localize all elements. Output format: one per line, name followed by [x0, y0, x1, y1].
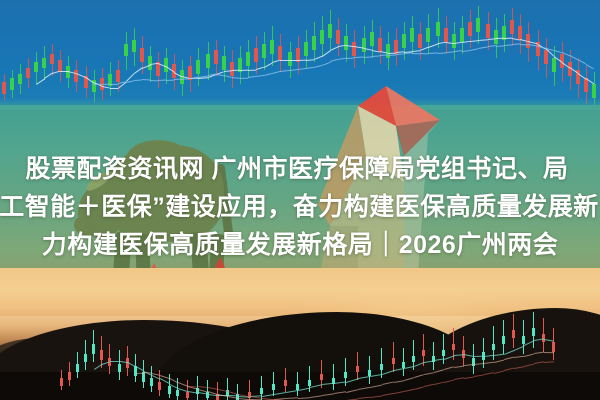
bottom-candlestick-chart	[0, 300, 600, 400]
candlestick	[432, 342, 435, 370]
candlestick-body	[552, 342, 555, 352]
candlestick-body	[42, 58, 46, 68]
trend-line-segment	[514, 366, 524, 369]
candlestick-body	[370, 32, 374, 46]
candlestick-body	[362, 38, 366, 52]
trend-line-segment	[188, 386, 198, 387]
trend-line-segment	[544, 361, 554, 363]
candlestick	[196, 48, 200, 86]
candlestick-body	[272, 384, 275, 390]
candlestick-body	[270, 40, 274, 54]
headline-line-2: 工智能＋医保”建设应用，奋力构建医保高质量发展新	[0, 188, 600, 226]
trend-line-segment	[330, 59, 338, 62]
cover-image: 股票配资资讯网 广州市医疗保障局党组书记、局 工智能＋医保”建设应用，奋力构建医…	[0, 0, 600, 400]
candlestick	[552, 46, 556, 86]
candlestick	[544, 38, 548, 78]
candlestick	[296, 372, 299, 396]
candlestick	[332, 364, 335, 390]
candlestick	[462, 336, 465, 366]
candlestick-body	[10, 78, 14, 90]
candlestick	[512, 314, 515, 348]
trend-line-segment	[382, 393, 394, 396]
candlestick-body	[214, 50, 218, 64]
candlestick	[42, 46, 46, 80]
candlestick	[272, 372, 275, 396]
trend-line-segment	[334, 392, 346, 395]
candlestick-body	[380, 364, 383, 370]
trend-line-segment	[434, 369, 444, 373]
candlestick-body	[206, 54, 210, 68]
candlestick	[84, 340, 87, 370]
candlestick-body	[402, 34, 406, 48]
candlestick	[118, 350, 121, 380]
candlestick-body	[510, 20, 514, 34]
candlestick	[156, 52, 160, 88]
trend-line-segment	[414, 386, 424, 390]
trend-line-segment	[322, 61, 330, 65]
candlestick-body	[84, 354, 87, 362]
candlestick-body	[412, 356, 415, 362]
candlestick	[370, 20, 374, 58]
trend-line-segment	[484, 373, 494, 376]
trend-line-segment	[434, 382, 444, 385]
candlestick	[386, 32, 390, 70]
candlestick-body	[124, 44, 128, 56]
candlestick-body	[18, 74, 22, 84]
trend-line-segment	[358, 387, 370, 390]
candlestick-body	[50, 54, 54, 64]
candlestick-body	[26, 68, 30, 78]
candlestick	[108, 344, 111, 374]
trend-line-segment	[504, 368, 514, 371]
trend-line-segment	[110, 83, 118, 84]
candlestick-body	[392, 358, 395, 364]
candlestick-body	[68, 372, 71, 380]
trend-line-segment	[306, 67, 314, 69]
trend-line-segment	[424, 384, 434, 387]
trend-line-segment	[322, 393, 334, 396]
trend-line-segment	[454, 378, 464, 381]
candlestick	[576, 58, 580, 98]
trend-line-segment	[306, 59, 314, 61]
candlestick	[76, 352, 79, 378]
candlestick-body	[284, 380, 287, 386]
trend-line-segment	[150, 80, 158, 81]
candlestick-body	[544, 50, 548, 64]
candlestick	[344, 24, 348, 62]
candlestick	[502, 320, 505, 354]
trend-line-segment	[208, 387, 218, 390]
trend-line-segment	[286, 398, 298, 400]
candlestick	[132, 28, 136, 66]
candlestick	[216, 382, 219, 400]
trend-line-segment	[424, 372, 434, 375]
trend-line-segment	[494, 370, 504, 373]
candlestick-body	[502, 336, 505, 344]
trend-line-segment	[534, 362, 544, 365]
candlestick	[532, 312, 535, 348]
candlestick	[536, 30, 540, 70]
candlestick-body	[196, 60, 200, 74]
trend-line-segment	[394, 380, 404, 383]
trend-line-segment	[346, 378, 358, 383]
candlestick	[18, 64, 22, 94]
candlestick	[92, 330, 95, 362]
trend-line-segment	[346, 57, 354, 58]
candlestick-body	[308, 380, 311, 386]
trend-line-segment	[388, 54, 396, 56]
candlestick	[68, 362, 71, 386]
trend-line-segment	[504, 350, 514, 355]
candlestick-body	[158, 382, 161, 390]
candlestick-body	[452, 34, 456, 48]
trend-line-segment	[272, 71, 280, 74]
trend-line-segment	[370, 384, 382, 387]
candlestick-body	[532, 328, 535, 336]
candlestick-body	[260, 388, 263, 394]
candlestick	[262, 32, 266, 70]
candlestick	[10, 70, 14, 98]
trend-line-segment	[110, 361, 120, 362]
candlestick	[378, 26, 382, 64]
candlestick-body	[552, 58, 556, 72]
trend-line-segment	[544, 352, 554, 353]
candlestick	[188, 56, 192, 92]
candlestick-body	[410, 28, 414, 42]
candlestick-body	[132, 40, 136, 52]
candlestick-body	[436, 22, 440, 36]
candlestick-body	[278, 46, 282, 60]
trend-line-segment	[444, 379, 454, 382]
trend-line-segment	[514, 356, 524, 358]
trend-line-segment	[262, 394, 274, 397]
trend-line-segment	[290, 60, 298, 61]
trend-line-segment	[464, 376, 474, 378]
candlestick-body	[460, 28, 464, 42]
trend-line-segment	[494, 354, 504, 356]
candlestick	[142, 360, 145, 388]
candlestick-body	[176, 390, 179, 396]
trend-line-segment	[534, 352, 544, 354]
trend-line-segment	[198, 386, 208, 388]
candlestick	[460, 16, 464, 54]
trend-line-segment	[484, 362, 494, 364]
candlestick-wick	[393, 342, 394, 372]
candlestick-body	[422, 350, 425, 356]
candlestick	[486, 12, 490, 50]
trend-line-segment	[382, 382, 394, 386]
trend-line-segment	[310, 395, 322, 398]
candlestick-body	[312, 36, 316, 50]
candlestick-body	[444, 28, 448, 42]
trend-line-segment	[524, 363, 534, 366]
trend-line-segment	[134, 79, 142, 80]
headline-block: 股票配资资讯网 广州市医疗保障局党组书记、局 工智能＋医保”建设应用，奋力构建医…	[0, 150, 600, 264]
candlestick	[394, 28, 398, 66]
trend-line-segment	[504, 357, 514, 360]
trend-line-segment	[136, 372, 144, 373]
candlestick	[356, 352, 359, 380]
trend-line-segment	[454, 365, 464, 367]
trend-line-segment	[412, 53, 420, 54]
candlestick	[284, 368, 287, 392]
candlestick	[74, 60, 78, 92]
candlestick	[522, 320, 525, 354]
trend-line-segment	[298, 397, 310, 399]
trend-line-segment	[166, 79, 174, 80]
candlestick-wick	[333, 364, 334, 390]
candlestick	[26, 58, 30, 88]
candlestick	[410, 16, 414, 54]
candlestick	[304, 30, 308, 68]
candlestick-body	[418, 34, 422, 48]
candlestick-body	[34, 62, 38, 72]
candlestick	[476, 6, 480, 44]
trend-line-segment	[102, 83, 110, 84]
headline-line-1: 股票配资资讯网 广州市医疗保障局党组书记、局	[0, 150, 600, 188]
trend-line-segment	[370, 395, 382, 397]
trend-line-segment	[438, 52, 446, 54]
candlestick	[468, 10, 472, 48]
trend-line-segment	[364, 56, 372, 58]
candlestick-body	[186, 392, 189, 398]
candlestick	[84, 66, 88, 98]
candlestick	[108, 62, 112, 96]
candlestick	[278, 34, 282, 72]
candlestick-body	[288, 52, 292, 66]
candlestick	[452, 22, 456, 60]
candlestick-body	[246, 52, 250, 66]
trend-line-segment	[298, 68, 306, 70]
candlestick-body	[320, 374, 323, 380]
candlestick-body	[512, 330, 515, 338]
candlestick-body	[378, 38, 382, 52]
candlestick	[50, 44, 54, 76]
candlestick	[444, 16, 448, 54]
candlestick-body	[518, 26, 522, 40]
candlestick-body	[262, 44, 266, 58]
candlestick	[312, 22, 316, 62]
trend-line-segment	[274, 392, 286, 395]
trend-line-segment	[474, 374, 484, 377]
candlestick-body	[352, 42, 356, 56]
candlestick-body	[304, 42, 308, 56]
candlestick	[2, 74, 6, 100]
candlestick-body	[140, 48, 144, 62]
candlestick-body	[522, 336, 525, 344]
candlestick-body	[344, 372, 347, 378]
candlestick	[34, 52, 38, 84]
candlestick-body	[442, 350, 445, 356]
candlestick	[270, 26, 274, 66]
candlestick-body	[592, 84, 596, 98]
candlestick-body	[328, 24, 332, 38]
candlestick	[368, 356, 371, 384]
candlestick	[518, 14, 522, 54]
candlestick-body	[452, 344, 455, 350]
trend-line-segment	[462, 50, 470, 52]
candlestick-body	[92, 344, 95, 354]
trend-line-segment	[470, 48, 478, 51]
candlestick-body	[118, 364, 121, 372]
trend-line-segment	[404, 377, 414, 381]
candlestick	[150, 366, 153, 392]
candlestick	[246, 40, 250, 78]
trend-line-segment	[494, 359, 504, 362]
trend-line-segment	[496, 45, 504, 47]
candlestick-body	[492, 344, 495, 350]
candlestick	[328, 10, 332, 50]
candlestick-body	[476, 18, 480, 32]
trend-line-segment	[404, 389, 414, 392]
candlestick	[134, 354, 137, 382]
trend-line-segment	[248, 69, 256, 70]
candlestick-body	[150, 378, 153, 386]
candlestick-body	[76, 364, 79, 372]
candlestick-body	[116, 70, 120, 82]
candlestick	[58, 50, 62, 82]
candlestick	[402, 348, 405, 376]
trend-line-segment	[414, 374, 424, 378]
candlestick-body	[426, 28, 430, 42]
candlestick	[392, 342, 395, 372]
candlestick-body	[356, 366, 359, 372]
candlestick-body	[336, 30, 340, 44]
candlestick	[124, 32, 128, 70]
candlestick-body	[486, 24, 490, 38]
trend-line-segment	[444, 367, 454, 371]
headline-line-3: 力构建医保高质量发展新格局｜2026广州两会	[0, 226, 600, 264]
candlestick-body	[468, 22, 472, 36]
trend-line-segment	[358, 397, 370, 399]
trend-line-segment	[382, 370, 394, 375]
candlestick-body	[320, 30, 324, 44]
candlestick	[552, 328, 555, 360]
trend-line-segment	[428, 53, 438, 55]
candlestick	[542, 318, 545, 352]
candlestick-body	[168, 386, 171, 394]
candlestick-body	[222, 56, 226, 70]
candlestick-body	[2, 82, 6, 94]
candlestick	[362, 26, 366, 64]
candlestick	[214, 40, 218, 76]
candlestick-body	[344, 36, 348, 50]
trend-line-segment	[264, 73, 272, 76]
trend-line-segment	[280, 60, 290, 61]
candlestick-body	[60, 378, 63, 386]
candlestick	[60, 370, 63, 390]
candlestick	[352, 30, 356, 68]
trend-line-segment	[346, 389, 358, 393]
candlestick	[336, 18, 340, 56]
trend-line-segment	[240, 77, 248, 78]
candlestick-body	[254, 48, 258, 62]
trend-line-segment	[256, 75, 264, 77]
candlestick	[472, 344, 475, 374]
trend-line-segment	[524, 353, 534, 357]
candlestick	[320, 16, 324, 56]
trend-line-segment	[394, 391, 404, 394]
candlestick	[510, 8, 514, 46]
candlestick-body	[100, 350, 103, 360]
